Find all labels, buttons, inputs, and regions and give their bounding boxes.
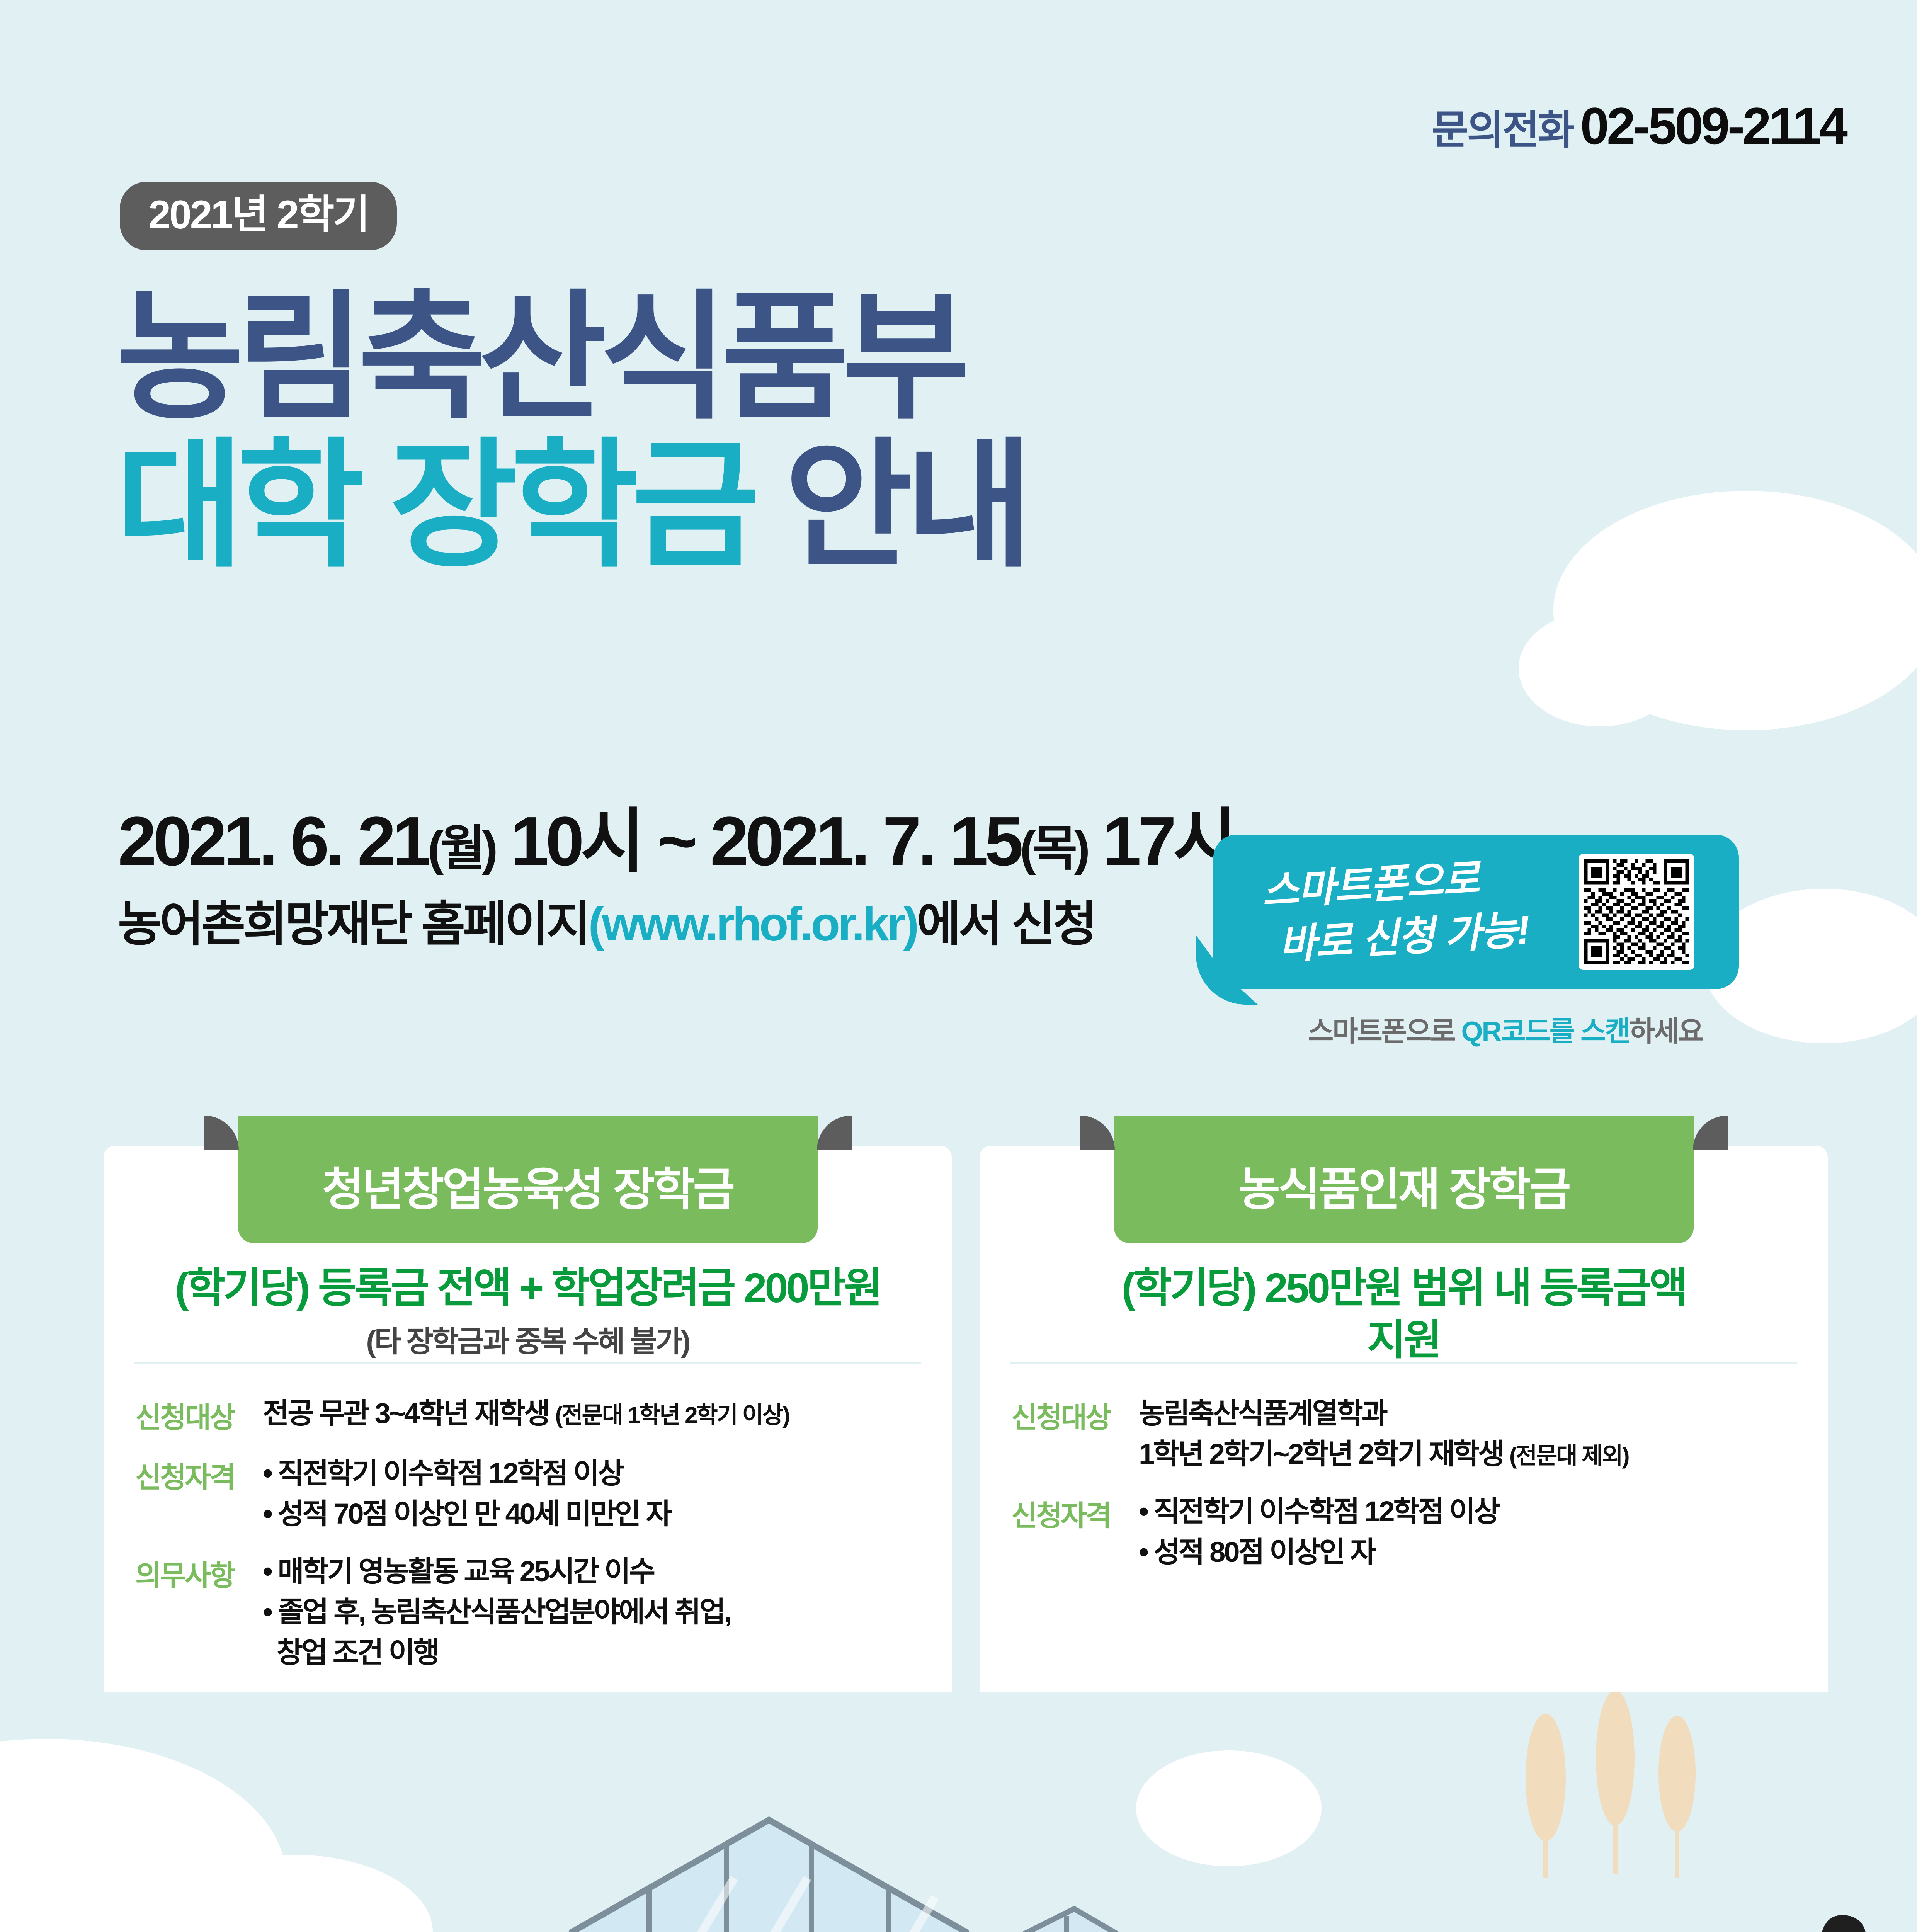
detail-line: • 졸업 후, 농림축산식품산업분야에서 취업, <box>263 1592 731 1632</box>
card-divider <box>1010 1362 1797 1364</box>
detail-row-body: • 매학기 영농활동 교육 25시간 이수 • 졸업 후, 농림축산식품산업분야… <box>263 1551 731 1673</box>
title-line-2-teal: 대학 장학금 <box>116 428 753 583</box>
detail-line: • 매학기 영농활동 교육 25시간 이수 <box>263 1551 731 1592</box>
card-title: 청년창업농육성 장학금 <box>322 1152 733 1218</box>
detail-line: 농림축산식품계열학과 <box>1139 1393 1629 1434</box>
card-amount-main: (학기당) 등록금 전액 + 학업장려금 200만원 <box>104 1262 952 1314</box>
card-title: 농식품인재 장학금 <box>1238 1152 1569 1218</box>
card-amount-main: (학기당) 250만원 범위 내 등록금액 지원 <box>1111 1262 1696 1366</box>
bubble-line-1: 스마트폰으로 <box>1260 856 1480 914</box>
detail-row-label: 의무사항 <box>135 1551 263 1673</box>
detail-line: • 성적 80점 이상인 자 <box>1139 1532 1499 1572</box>
page-title: 농림축산식품부 대학 장학금 안내 <box>116 290 1026 574</box>
card-amount: (학기당) 등록금 전액 + 학업장려금 200만원 (타 장학금과 중복 수혜… <box>104 1262 952 1360</box>
start-time: 10시 <box>510 803 641 880</box>
detail-row-body: • 직전학기 이수학점 12학점 이상 • 성적 70점 이상인 만 40세 미… <box>263 1453 670 1534</box>
title-line-2-navy: 안내 <box>784 428 1026 583</box>
application-period: 2021. 6. 21(월) 10시 ~ 2021. 7. 15(목) 17시 <box>118 784 1233 885</box>
speech-bubble-text: 스마트폰으로 바로 신청 가능! <box>1260 847 1561 981</box>
apply-prefix: 농어촌희망재단 홈페이지 <box>118 898 588 951</box>
title-line-2: 대학 장학금 안내 <box>116 438 1026 574</box>
title-line-1: 농림축산식품부 <box>116 290 1026 426</box>
detail-line-note: (전문대 제외) <box>1509 1443 1629 1469</box>
detail-row-body: 전공 무관 3~4학년 재학생 (전문대 1학년 2학기 이상) <box>263 1393 789 1436</box>
detail-row-body: 농림축산식품계열학과 1학년 2학기~2학년 2학기 재학생 (전문대 제외) <box>1139 1393 1629 1474</box>
start-day: (월) <box>428 821 495 876</box>
detail-row: 신청대상 농림축산식품계열학과 1학년 2학기~2학년 2학기 재학생 (전문대… <box>1011 1393 1800 1474</box>
detail-row: 신청대상 전공 무관 3~4학년 재학생 (전문대 1학년 2학기 이상) <box>135 1393 924 1436</box>
cloud-top-right-2 <box>1519 611 1681 726</box>
detail-row: 의무사항 • 매학기 영농활동 교육 25시간 이수 • 졸업 후, 농림축산식… <box>135 1551 924 1673</box>
detail-row-body: • 직전학기 이수학점 12학점 이상 • 성적 80점 이상인 자 <box>1139 1491 1499 1572</box>
range-tilde: ~ <box>641 803 710 880</box>
qr-caption: 스마트폰으로 QR코드를 스캔하세요 <box>1308 1009 1703 1049</box>
qr-caption-prefix: 스마트폰으로 <box>1308 1016 1461 1047</box>
apply-instruction: 농어촌희망재단 홈페이지(www.rhof.or.kr)에서 신청 <box>118 885 1095 954</box>
detail-line: 전공 무관 3~4학년 재학생 <box>263 1397 555 1429</box>
poster-canvas: 문의전화 02-509-2114 2021년 2학기 농림축산식품부 대학 장학… <box>0 0 1917 1932</box>
detail-line: • 직전학기 이수학점 12학점 이상 <box>263 1453 670 1493</box>
contact-phone: 문의전화 02-509-2114 <box>1432 97 1846 156</box>
detail-row-label: 신청대상 <box>1011 1393 1139 1474</box>
end-day: (목) <box>1020 821 1087 876</box>
detail-line: 창업 조건 이행 <box>263 1632 731 1673</box>
end-date: 2021. 7. 15 <box>710 803 1020 880</box>
farm-illustration <box>0 1692 1917 1932</box>
card-ribbon: 농식품인재 장학금 <box>1114 1116 1694 1243</box>
card-detail-rows: 신청대상 전공 무관 3~4학년 재학생 (전문대 1학년 2학기 이상) 신청… <box>135 1393 924 1690</box>
phone-label: 문의전화 <box>1432 97 1573 155</box>
detail-line-note: (전문대 1학년 2학기 이상) <box>555 1402 789 1428</box>
qr-caption-suffix: 하세요 <box>1630 1016 1703 1047</box>
detail-line: • 직전학기 이수학점 12학점 이상 <box>1139 1491 1499 1532</box>
detail-row-label: 신청대상 <box>135 1393 263 1436</box>
bubble-line-2: 바로 신청 가능! <box>1277 901 1560 972</box>
apply-url[interactable]: (www.rhof.or.kr) <box>588 898 917 951</box>
qr-code[interactable] <box>1579 854 1694 970</box>
semester-badge: 2021년 2학기 <box>120 182 397 250</box>
detail-line: • 성적 70점 이상인 만 40세 미만인 자 <box>263 1493 670 1534</box>
phone-number: 02-509-2114 <box>1580 97 1846 156</box>
detail-line: 1학년 2학기~2학년 2학기 재학생 <box>1139 1438 1509 1470</box>
detail-row-label: 신청자격 <box>135 1453 263 1534</box>
detail-row: 신청자격 • 직전학기 이수학점 12학점 이상 • 성적 80점 이상인 자 <box>1011 1491 1800 1572</box>
qr-caption-highlight: QR코드를 스캔 <box>1461 1016 1629 1047</box>
card-amount: (학기당) 250만원 범위 내 등록금액 지원 <box>980 1262 1828 1370</box>
detail-line-wrap: 1학년 2학기~2학년 2학기 재학생 (전문대 제외) <box>1139 1434 1629 1474</box>
detail-row: 신청자격 • 직전학기 이수학점 12학점 이상 • 성적 70점 이상인 만 … <box>135 1453 924 1534</box>
card-amount-note: (타 장학금과 중복 수혜 불가) <box>104 1318 952 1360</box>
apply-suffix: 에서 신청 <box>917 898 1095 951</box>
card-divider <box>134 1362 921 1364</box>
detail-row-label: 신청자격 <box>1011 1491 1139 1572</box>
card-detail-rows: 신청대상 농림축산식품계열학과 1학년 2학기~2학년 2학기 재학생 (전문대… <box>1011 1393 1800 1589</box>
card-ribbon: 청년창업농육성 장학금 <box>238 1116 818 1243</box>
start-date: 2021. 6. 21 <box>118 803 428 880</box>
